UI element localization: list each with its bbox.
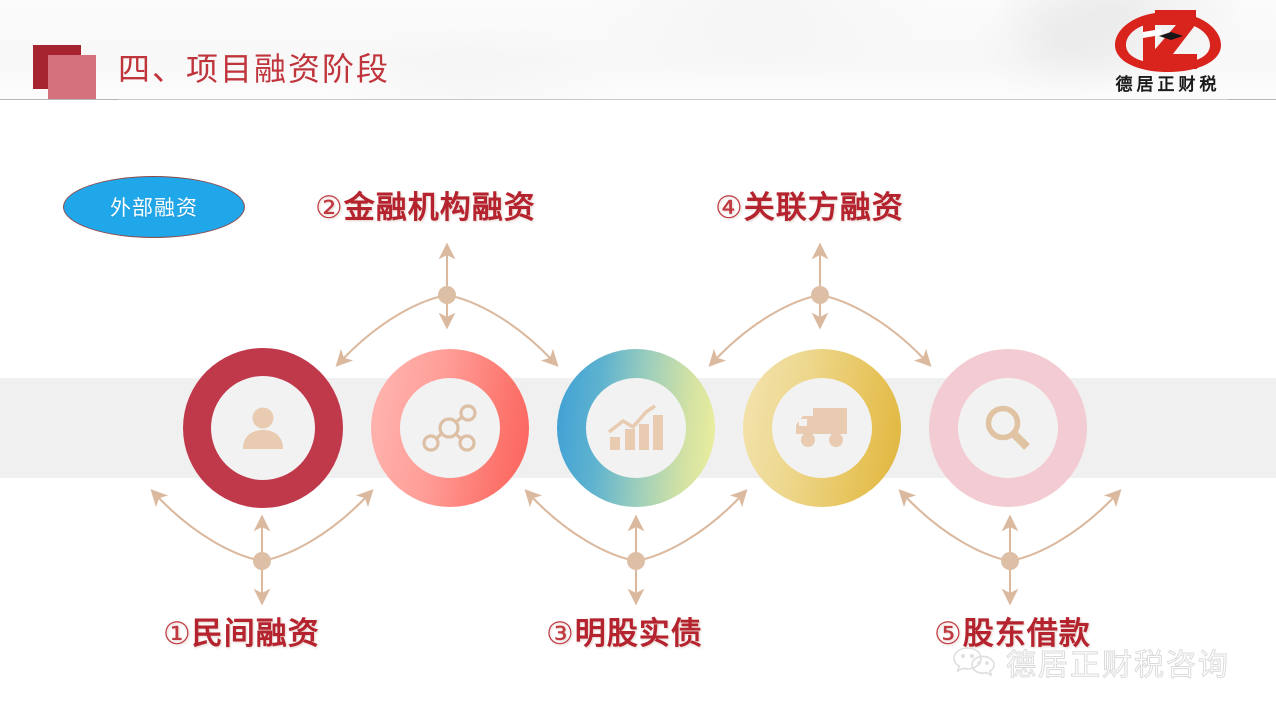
junction-dot-top-b xyxy=(811,286,829,304)
label-top-2-number: ② xyxy=(315,190,344,226)
wechat-watermark-text: 德居正财税咨询 xyxy=(1006,640,1230,684)
arc-bottom-right-2 xyxy=(636,496,741,561)
label-bottom-1-text: 民间融资 xyxy=(192,616,320,652)
junction-dot-bottom-1 xyxy=(253,552,271,570)
wechat-watermark: 德居正财税咨询 xyxy=(952,636,1242,688)
label-bottom-3-number: ③ xyxy=(546,616,575,652)
person-icon xyxy=(236,401,290,455)
label-bottom-1-number: ① xyxy=(163,616,192,652)
title-underline xyxy=(118,99,1228,100)
label-bottom-1: ①民间融资 xyxy=(163,608,320,653)
search-icon xyxy=(981,401,1035,455)
company-emblem-icon xyxy=(1093,8,1243,74)
junction-dot-bottom-2 xyxy=(627,552,645,570)
label-bottom-3: ③明股实债 xyxy=(546,608,703,653)
external-financing-badge-label: 外部融资 xyxy=(110,192,198,222)
wechat-icon xyxy=(952,645,996,679)
network-icon xyxy=(421,401,479,455)
node-5-search[interactable] xyxy=(929,349,1087,507)
bar-chart-icon xyxy=(606,402,666,454)
slide-root: 四、项目融资阶段 德居正财税 xyxy=(0,0,1276,716)
title-accent-square-light xyxy=(48,55,96,99)
page-title: 四、项目融资阶段 xyxy=(118,47,390,91)
external-financing-badge[interactable]: 外部融资 xyxy=(63,176,245,238)
label-top-2: ②金融机构融资 xyxy=(315,182,536,227)
node-1-person[interactable] xyxy=(183,348,343,508)
label-top-2-text: 金融机构融资 xyxy=(344,190,536,226)
node-4-truck[interactable] xyxy=(743,349,901,507)
junction-dot-bottom-3 xyxy=(1001,552,1019,570)
label-top-4: ④关联方融资 xyxy=(715,182,904,227)
label-top-4-text: 关联方融资 xyxy=(744,190,904,226)
node-3-bar-chart[interactable] xyxy=(557,349,715,507)
truck-icon xyxy=(792,404,852,452)
company-logo: 德居正财税 xyxy=(1093,8,1243,100)
junction-dot-top-a xyxy=(438,286,456,304)
arc-bottom-left-2 xyxy=(531,496,636,561)
arc-bottom-right-3 xyxy=(1010,496,1115,561)
label-top-4-number: ④ xyxy=(715,190,744,226)
label-bottom-3-text: 明股实债 xyxy=(575,616,703,652)
node-2-network[interactable] xyxy=(371,349,529,507)
logo-company-name: 德居正财税 xyxy=(1093,70,1243,95)
